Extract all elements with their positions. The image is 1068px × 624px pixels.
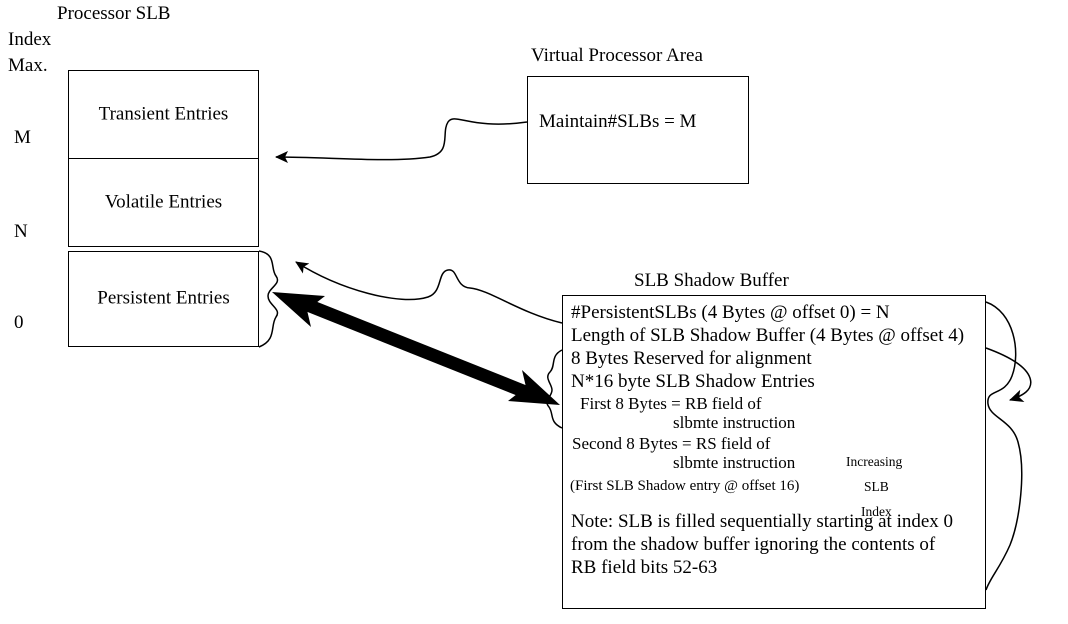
- shadow-buffer-line-persistent-slbs: #PersistentSLBs (4 Bytes @ offset 0) = N: [571, 302, 890, 324]
- index-label-max: Max.: [8, 56, 48, 75]
- slb-cell-persistent-label: Persistent Entries: [69, 288, 258, 310]
- virtual-processor-area-box: Maintain#SLBs = M: [527, 76, 749, 184]
- vpa-to-slb-connector: [276, 119, 527, 160]
- shadow-buffer-note-line-2: from the shadow buffer ignoring the cont…: [571, 534, 935, 556]
- sb-text-3: N*16 byte SLB Shadow Entries: [571, 371, 815, 392]
- sb-note-text-0: Note: SLB is filled sequentially startin…: [571, 511, 953, 532]
- shadow-buffer-top-connector: [296, 262, 562, 323]
- shadow-buffer-line-length: Length of SLB Shadow Buffer (4 Bytes @ o…: [571, 325, 964, 347]
- persistent-shadow-double-arrow: [272, 292, 560, 405]
- shadow-buffer-line-entries: N*16 byte SLB Shadow Entries: [571, 371, 815, 393]
- shadow-buffer-note-line-1: Note: SLB is filled sequentially startin…: [571, 511, 953, 533]
- sb-text-0: #PersistentSLBs (4 Bytes @ offset 0) = N: [571, 302, 890, 323]
- sb-text-4: First 8 Bytes = RB field of: [580, 394, 761, 413]
- shadow-buffer-line-slbmte-2: slbmte instruction: [673, 453, 795, 473]
- slb-cell-transient-label: Transient Entries: [69, 103, 258, 125]
- shadow-buffer-line-first8: First 8 Bytes = RB field of: [580, 394, 761, 414]
- sb-note-text-1: from the shadow buffer ignoring the cont…: [571, 534, 935, 555]
- sb-text-2: 8 Bytes Reserved for alignment: [571, 348, 812, 369]
- shadow-buffer-note-line-3: RB field bits 52-63: [571, 557, 717, 579]
- shadow-buffer-line-second8: Second 8 Bytes = RS field of: [572, 434, 770, 454]
- index-label-zero: 0: [14, 313, 24, 332]
- diagram-canvas: Processor SLB (M boundary) --> top of pe…: [0, 0, 1068, 624]
- increasing-caption-line-3: Index: [861, 504, 892, 520]
- shadow-buffer-line-reserved: 8 Bytes Reserved for alignment: [571, 348, 812, 370]
- processor-slb-title: Processor SLB: [57, 4, 170, 23]
- slb-cell-transient: Transient Entries: [68, 70, 259, 159]
- sb-text-5: slbmte instruction: [673, 413, 795, 432]
- increasing-caption-line-1: Increasing: [846, 454, 902, 470]
- shadow-buffer-line-first-entry-offset: (First SLB Shadow entry @ offset 16): [570, 478, 799, 495]
- slb-cell-volatile: Volatile Entries: [68, 158, 259, 247]
- sb-text-8: (First SLB Shadow entry @ offset 16): [570, 478, 799, 494]
- sb-note-text-2: RB field bits 52-63: [571, 557, 717, 578]
- offset4-to-brace-connector: [986, 348, 1031, 400]
- increasing-caption-line-2: SLB: [864, 479, 889, 495]
- sb-text-7: slbmte instruction: [673, 453, 795, 472]
- index-label-m: M: [14, 128, 31, 147]
- virtual-processor-area-title: Virtual Processor Area: [531, 46, 703, 65]
- sb-text-6: Second 8 Bytes = RS field of: [572, 434, 770, 453]
- slb-shadow-buffer-title: SLB Shadow Buffer: [634, 271, 789, 290]
- virtual-processor-area-content: Maintain#SLBs = M: [539, 111, 696, 133]
- slb-cell-persistent: Persistent Entries: [68, 251, 259, 347]
- sb-text-1: Length of SLB Shadow Buffer (4 Bytes @ o…: [571, 325, 964, 346]
- persistent-entries-brace: [259, 251, 277, 347]
- shadow-buffer-left-brace: [547, 350, 562, 428]
- slb-cell-volatile-label: Volatile Entries: [69, 191, 258, 213]
- shadow-buffer-line-slbmte-1: slbmte instruction: [673, 413, 795, 433]
- shadow-buffer-right-brace: [986, 302, 1022, 590]
- index-label-n: N: [14, 222, 28, 241]
- index-header-label: Index: [8, 30, 51, 49]
- slb-shadow-buffer-box: #PersistentSLBs (4 Bytes @ offset 0) = N…: [562, 295, 986, 609]
